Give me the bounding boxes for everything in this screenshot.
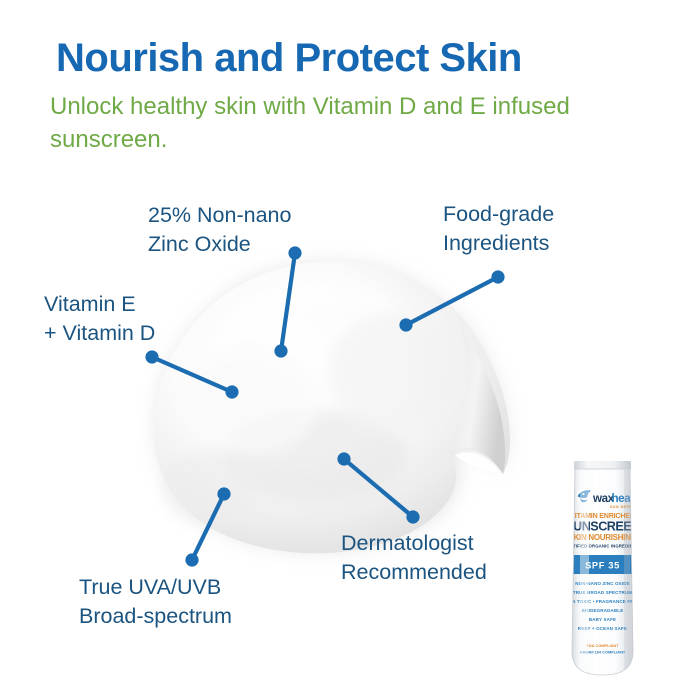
connector-dot-vitamin-outer xyxy=(145,350,158,363)
infographic-canvas: Nourish and Protect Skin Unlock healthy … xyxy=(0,0,679,679)
callout-label-food-grade: Food-grade Ingredients xyxy=(443,200,554,257)
connector-dot-derm-inner xyxy=(337,452,350,465)
callout-label-dermatologist: Dermatologist Recommended xyxy=(341,529,487,586)
connector-dot-food-outer xyxy=(491,270,504,283)
product-tube: wax head ® SUN DEFENSE VITAMIN ENRICHED … xyxy=(566,455,639,679)
callout-label-vitamin-e-d: Vitamin E + Vitamin D xyxy=(44,290,155,347)
callout-label-zinc-oxide: 25% Non-nano Zinc Oxide xyxy=(148,201,291,258)
connector-dot-vitamin-inner xyxy=(225,385,238,398)
connector-dot-derm-outer xyxy=(406,510,419,523)
connector-dot-zinc-inner xyxy=(274,344,287,357)
brand-tm: ® xyxy=(635,492,638,497)
callout-label-uva-uvb: True UVA/UVB Broad-spectrum xyxy=(79,573,232,630)
connector-dot-food-inner xyxy=(399,318,412,331)
tube-bullet: BABY SAFE xyxy=(589,617,616,622)
spf-value: SPF 35 xyxy=(585,560,620,571)
cream-swatch xyxy=(154,261,510,553)
tube-footer-1: FDA COMPLIANT xyxy=(586,643,619,648)
connector-dot-uv-outer xyxy=(185,553,198,566)
connector-dot-uv-inner xyxy=(217,487,230,500)
